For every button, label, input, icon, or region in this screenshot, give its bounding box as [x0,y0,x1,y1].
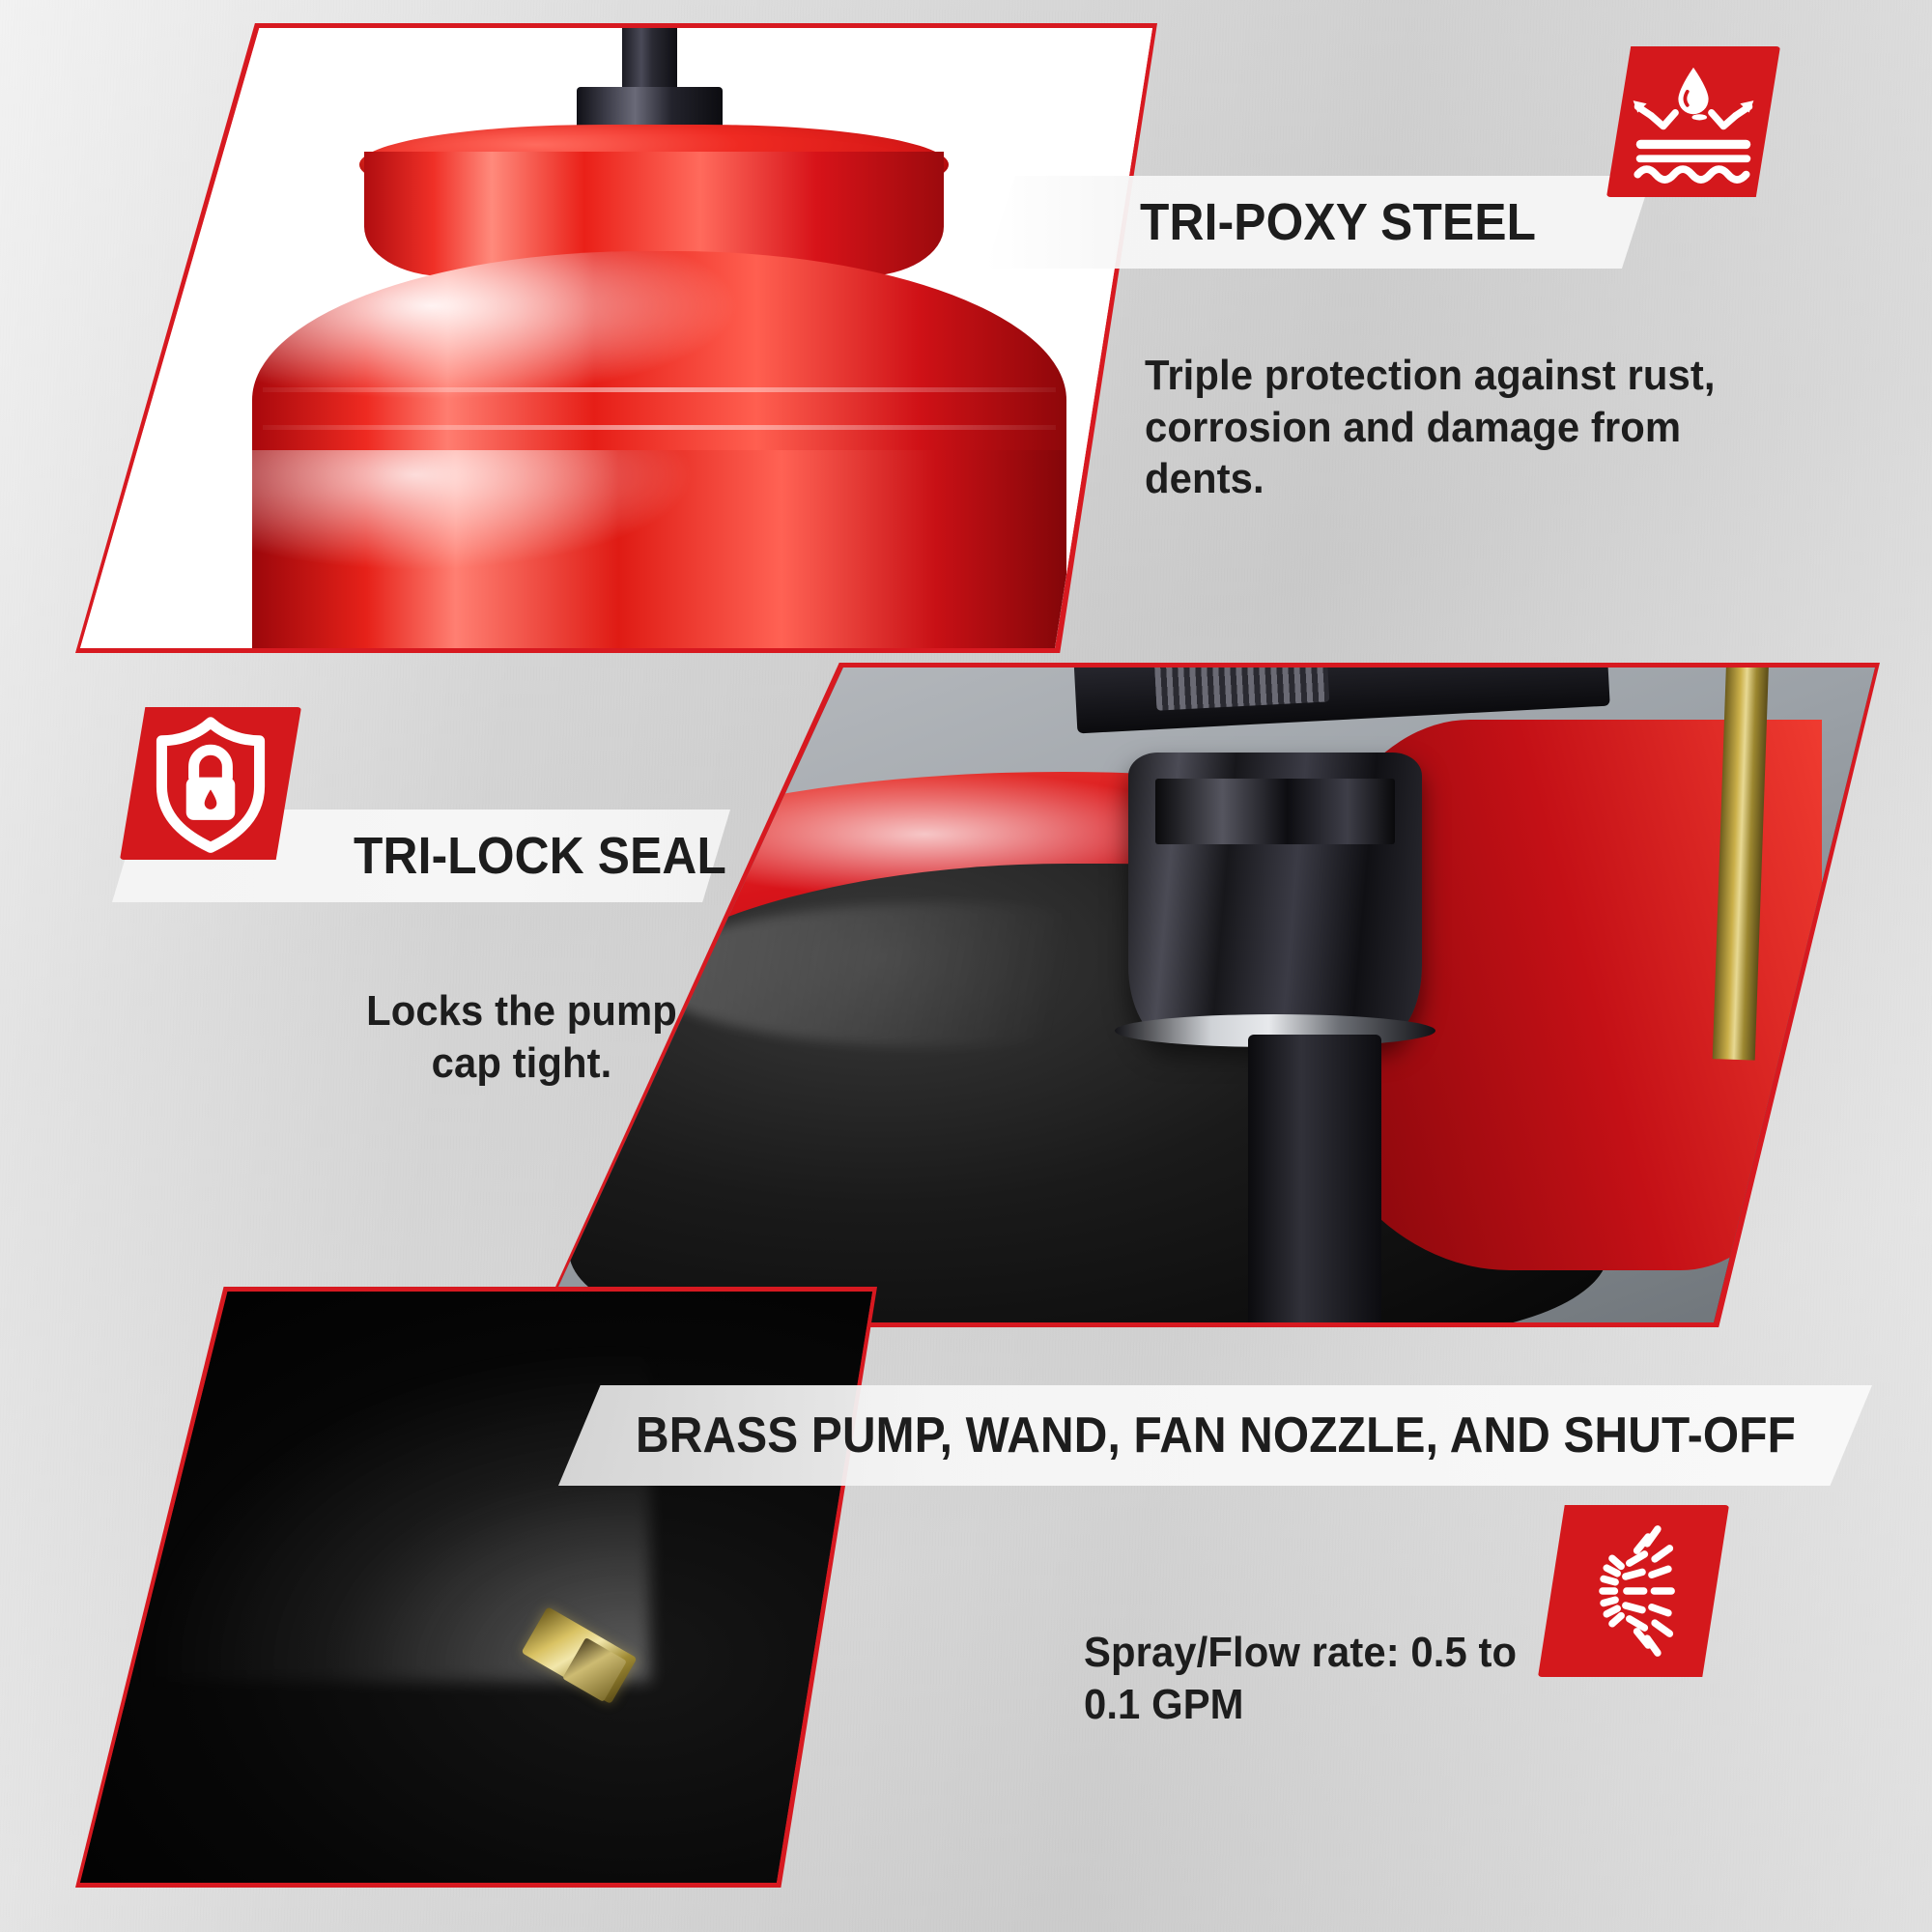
tank-ring-upper [263,387,1056,392]
feature-title-tri-lock-seal: TRI-LOCK SEAL [354,826,726,886]
shield-lock-icon [120,707,301,860]
panel-photo-tri-lock-seal [542,668,1875,1322]
feature-body-brass-pump: Spray/Flow rate: 0.5 to 0.1 GPM [1084,1627,1561,1730]
feature-title-tri-poxy-steel: TRI-POXY STEEL [1140,192,1536,252]
feature-title-band-brass-pump: BRASS PUMP, WAND, FAN NOZZLE, AND SHUT-O… [558,1385,1872,1486]
feature-panel-tri-poxy-steel [75,23,1157,653]
tank-ring-lower [263,425,1056,430]
spray-fan-icon [1538,1505,1729,1677]
tank-body [252,450,1067,648]
water-repellent-layers-icon [1606,46,1780,197]
panel-photo-tri-poxy-steel [80,28,1152,648]
pump-cap-slot [1155,779,1395,844]
feature-panel-brass-pump [75,1287,877,1888]
feature-body-tri-poxy-steel: Triple protection against rust, corrosio… [1145,350,1750,505]
infographic-root: TRI-POXY STEEL Triple protection against… [0,0,1932,1932]
feature-title-brass-pump: BRASS PUMP, WAND, FAN NOZZLE, AND SHUT-O… [636,1406,1796,1464]
pump-shaft [622,28,678,90]
pump-cap-closeup-photo [542,668,1875,1322]
panel-photo-brass-pump [80,1292,872,1883]
feature-body-tri-lock-seal: Locks the pump cap tight. [329,985,715,1089]
feature-icon-tile-brass-pump [1538,1505,1729,1677]
fan-spray-nozzle-photo [80,1292,872,1883]
feature-title-band-tri-poxy-steel: TRI-POXY STEEL [985,176,1652,269]
red-sprayer-tank-top-photo [80,28,1152,648]
feature-icon-tile-tri-lock-seal [120,707,301,860]
feature-icon-tile-tri-poxy-steel [1606,46,1780,197]
pump-stem [1248,1035,1381,1322]
feature-panel-tri-lock-seal [537,663,1880,1327]
